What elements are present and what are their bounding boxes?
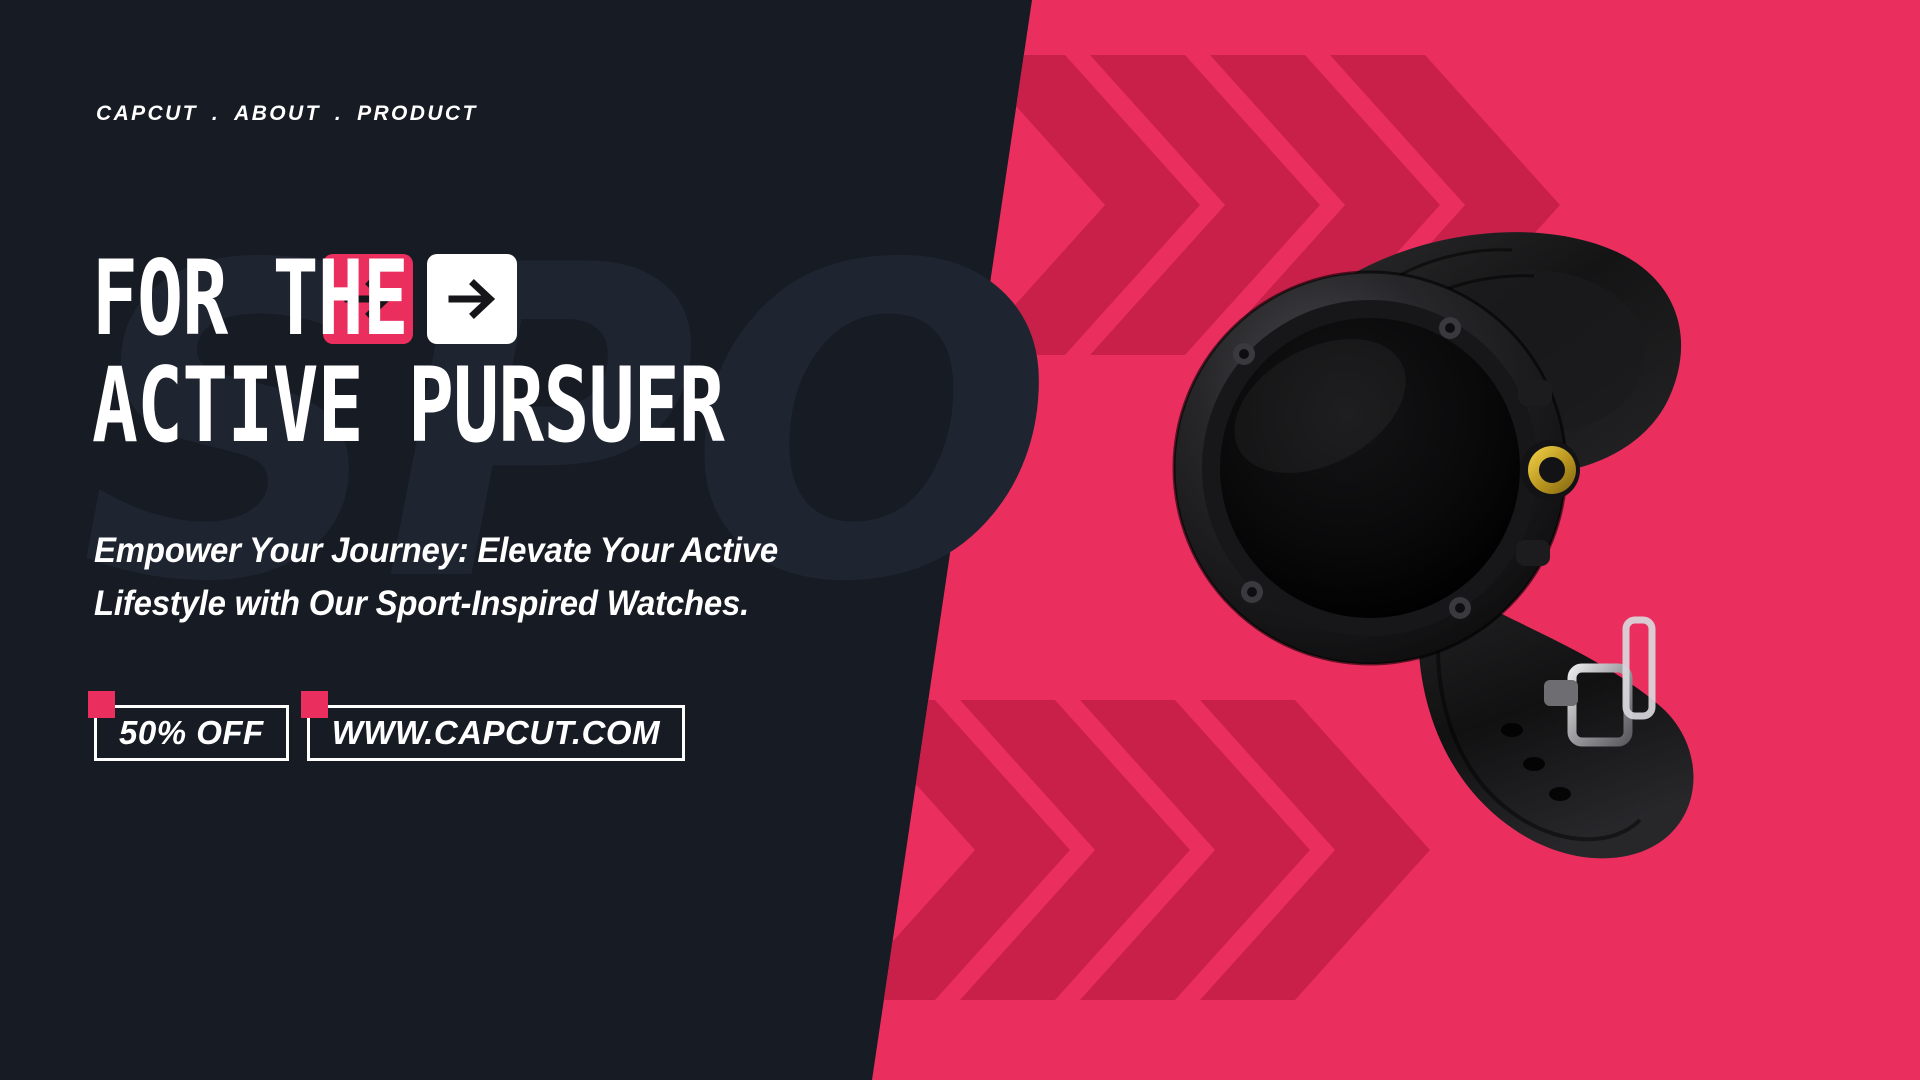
nav-item-about[interactable]: ABOUT xyxy=(234,102,321,126)
website-label: WWW.CAPCUT.COM xyxy=(332,714,660,752)
nav-separator: . xyxy=(212,102,220,126)
product-image-smartwatch xyxy=(1120,168,1780,868)
nav-separator: . xyxy=(335,102,343,126)
headline-line-2: ACTIVE PURSUER xyxy=(92,357,724,456)
discount-badge[interactable]: 50% OFF xyxy=(94,705,289,761)
content-column: CAPCUT . ABOUT . PRODUCT FOR THE xyxy=(0,0,1000,1080)
top-navigation: CAPCUT . ABOUT . PRODUCT xyxy=(96,102,478,126)
nav-item-product[interactable]: PRODUCT xyxy=(357,102,478,126)
subheading-line-2: Lifestyle with Our Sport-Inspired Watche… xyxy=(94,577,808,630)
headline-block: FOR THE ACTIVE PURSUER xyxy=(92,250,946,456)
badge-corner-accent xyxy=(301,691,328,718)
website-badge[interactable]: WWW.CAPCUT.COM xyxy=(307,705,685,761)
headline-row-1: FOR THE xyxy=(92,250,946,349)
nav-item-capcut[interactable]: CAPCUT xyxy=(96,102,198,126)
subheading: Empower Your Journey: Elevate Your Activ… xyxy=(94,524,808,630)
badge-corner-accent xyxy=(88,691,115,718)
badge-row: 50% OFF WWW.CAPCUT.COM xyxy=(94,705,685,761)
arrow-right-button-white[interactable] xyxy=(427,254,517,344)
subheading-line-1: Empower Your Journey: Elevate Your Activ… xyxy=(94,524,808,577)
headline-line-1: FOR THE xyxy=(92,250,408,349)
arrow-right-icon xyxy=(446,273,498,325)
promo-banner: SPO xyxy=(0,0,1920,1080)
discount-label: 50% OFF xyxy=(119,714,264,752)
